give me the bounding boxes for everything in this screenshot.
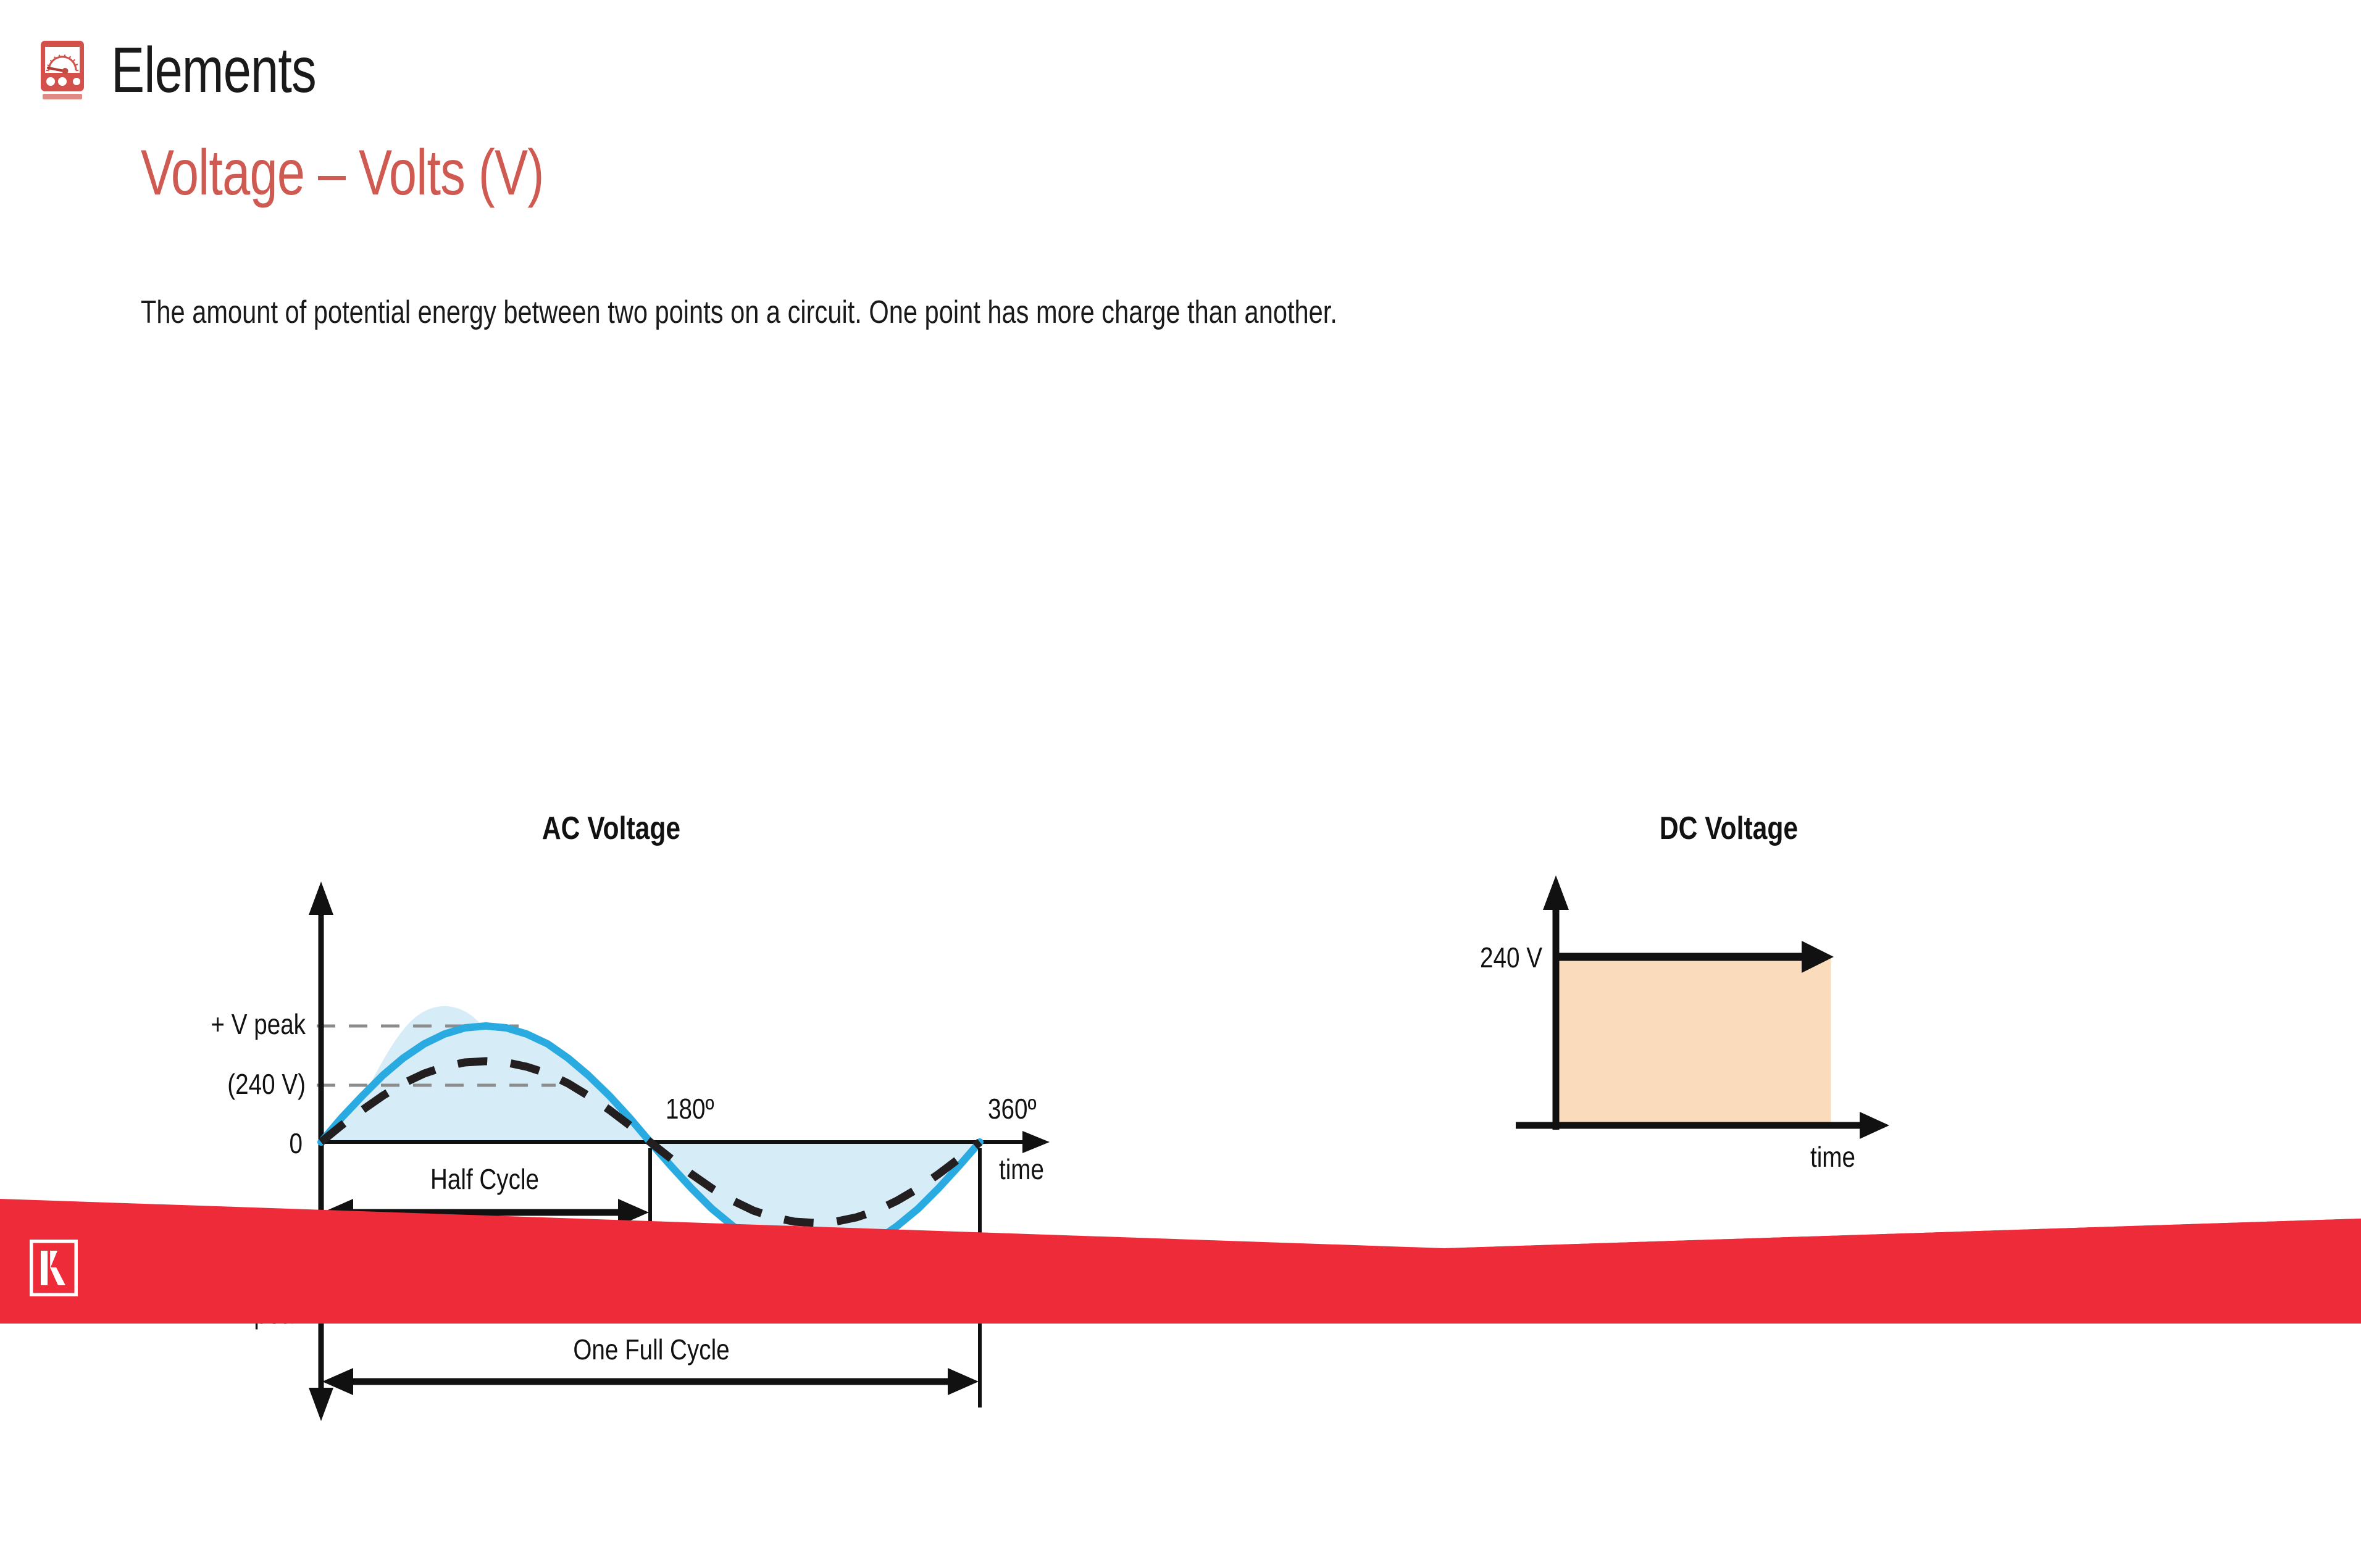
footer-bright-shape bbox=[0, 1199, 2361, 1324]
ac-x-axis-label: time bbox=[999, 1154, 1044, 1185]
dc-chart-title: DC Voltage bbox=[1552, 810, 1906, 847]
dc-area-fill bbox=[1556, 957, 1831, 1125]
ac-chart-title: AC Voltage bbox=[434, 810, 788, 847]
ac-label-rms-240v: (240 V) bbox=[227, 1069, 306, 1100]
title-block: Elements bbox=[38, 38, 374, 102]
page-subtitle: Voltage – Volts (V) bbox=[141, 141, 544, 205]
multimeter-icon bbox=[38, 40, 95, 101]
ac-y-axis bbox=[309, 882, 333, 1421]
ac-full-cycle-label: One Full Cycle bbox=[573, 1334, 729, 1366]
ac-tick-180: 180º bbox=[666, 1093, 714, 1125]
dc-y-axis-label: 240 V bbox=[1480, 942, 1543, 974]
ac-full-cycle-arrow bbox=[322, 1368, 979, 1395]
page-title: Elements bbox=[111, 38, 316, 102]
ac-label-v-peak-pos: + V peak bbox=[211, 1009, 306, 1040]
page-description: The amount of potential energy between t… bbox=[141, 296, 1337, 328]
dc-x-axis-label: time bbox=[1810, 1141, 1855, 1173]
ac-tick-360: 360º bbox=[988, 1093, 1037, 1125]
charts-area: AC Voltage DC Voltage bbox=[0, 395, 2361, 1185]
ac-label-zero: 0 bbox=[290, 1128, 303, 1159]
footer-banner bbox=[0, 1182, 2361, 1324]
k-logo bbox=[30, 1240, 78, 1296]
